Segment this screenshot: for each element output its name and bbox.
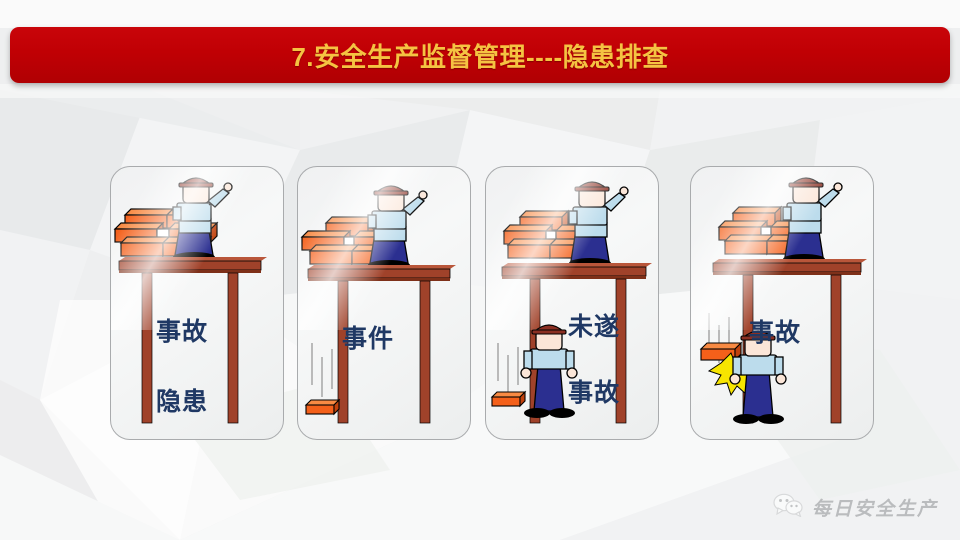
worker-upper-figure: [173, 178, 232, 262]
motion-lines-icon: [312, 343, 332, 397]
card-incident[interactable]: 事件: [297, 166, 471, 440]
scene-brick-strikes-worker: [691, 167, 873, 439]
card-label: 隐患: [156, 382, 208, 418]
card-accident[interactable]: 事故: [690, 166, 874, 440]
fallen-brick-icon: [492, 392, 525, 406]
page-title: 7.安全生产监督管理----隐患排查: [291, 37, 668, 74]
motion-lines-icon: [498, 343, 518, 393]
card-label: 事故: [749, 313, 801, 349]
card-near-miss[interactable]: 未遂 事故: [485, 166, 659, 440]
worker-upper-figure: [368, 186, 427, 270]
card-label: 事件: [342, 319, 394, 355]
scene-brick-fallen: [298, 167, 470, 439]
slide-root: 7.安全生产监督管理----隐患排查: [0, 0, 960, 540]
watermark: 每日安全生产: [773, 493, 938, 522]
title-banner: 7.安全生产监督管理----隐患排查: [10, 27, 950, 83]
worker-upper-figure: [783, 178, 842, 264]
watermark-text: 每日安全生产: [812, 494, 938, 521]
wechat-icon: [773, 493, 803, 522]
card-label: 未遂: [568, 307, 620, 343]
card-hazard[interactable]: 事故 隐患: [110, 166, 284, 440]
fallen-brick-icon: [306, 400, 339, 414]
card-label: 事故: [156, 312, 208, 348]
card-label: 事故: [568, 373, 620, 409]
worker-upper-figure: [569, 182, 628, 268]
